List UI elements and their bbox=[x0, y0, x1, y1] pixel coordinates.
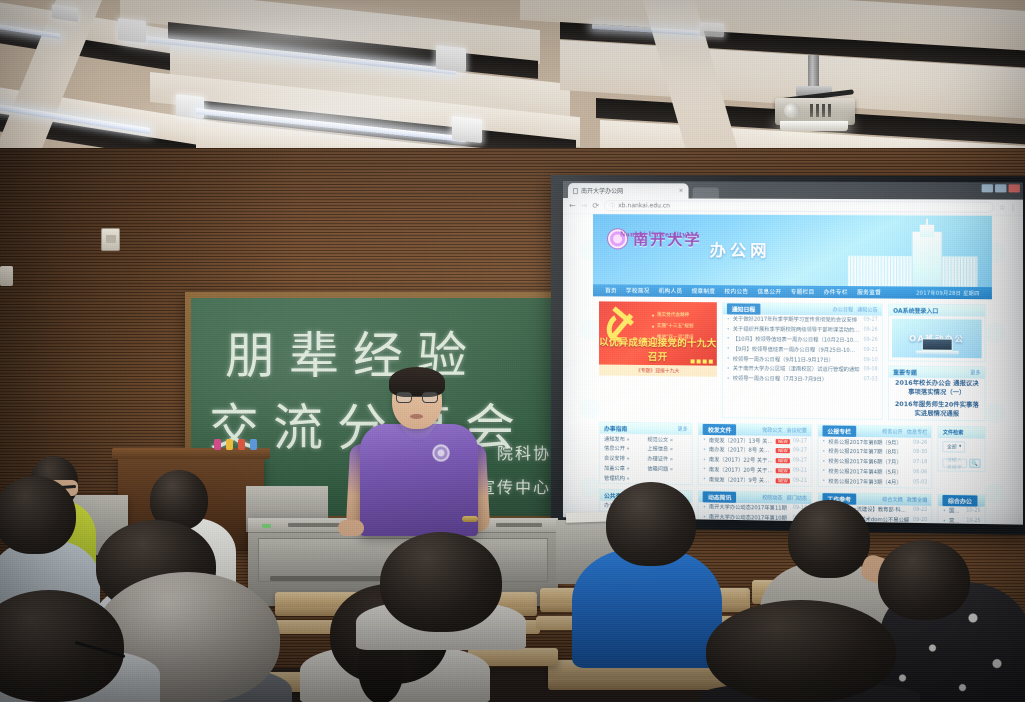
back-icon[interactable]: ← bbox=[569, 202, 576, 210]
gazette-date: 08-30 bbox=[913, 450, 927, 455]
wall-plate bbox=[0, 266, 13, 286]
status-led-icon bbox=[262, 524, 271, 528]
doc-text[interactable]: 南党发〔2017〕9号 关于开展主题... bbox=[709, 476, 773, 484]
browser-tabstrip: 南开大学办公网 × bbox=[563, 181, 1023, 200]
doc-date: 09-27 bbox=[793, 449, 807, 454]
nav-item-0[interactable]: 首页 bbox=[605, 286, 617, 294]
notice-panel: 通知日程 办公日程 通知公告 •关于做好2017年秋季学期学习宣传贯彻党的会议安… bbox=[722, 302, 883, 420]
ceiling-projector bbox=[770, 55, 890, 125]
guide-link[interactable]: 会议安排 » bbox=[604, 455, 644, 463]
guide-link[interactable]: 办理证件 » bbox=[647, 455, 687, 463]
gazette-text[interactable]: 校务公报2017年第8期（9月） bbox=[828, 438, 910, 446]
gazette-panel: 公报专栏 校务公开 信息专栏 •校务公报2017年第8期（9月）09-26 •校… bbox=[817, 424, 932, 488]
search-icon[interactable]: 🔍 bbox=[969, 459, 980, 468]
news-tab-0[interactable]: 校院动态 bbox=[762, 494, 782, 501]
nav-item-3[interactable]: 规章制度 bbox=[692, 287, 716, 295]
guide-link[interactable]: 加盖公章 » bbox=[604, 465, 644, 473]
gazette-text[interactable]: 校务公报2017年第3期（4月） bbox=[828, 478, 910, 486]
news-tab-1[interactable]: 部门动态 bbox=[787, 495, 807, 502]
guide-link[interactable]: 上报信息 » bbox=[647, 446, 687, 454]
chevron-down-icon: ▾ bbox=[959, 445, 961, 450]
close-window-icon[interactable] bbox=[1009, 184, 1020, 192]
projector-lens-icon bbox=[784, 103, 800, 118]
nav-item-2[interactable]: 机构人员 bbox=[659, 287, 683, 295]
party-point-0: 落实党代会精神 bbox=[657, 312, 689, 318]
nav-item-6[interactable]: 专题栏目 bbox=[791, 288, 815, 296]
gazette-text[interactable]: 校务公报2017年第7期（8月） bbox=[828, 448, 910, 456]
gazette-date: 05-03 bbox=[913, 480, 927, 485]
gazette-date: 06-06 bbox=[913, 470, 927, 475]
new-badge: NEW bbox=[776, 448, 790, 453]
topic-panel-title: 重要专题 bbox=[893, 367, 917, 376]
nav-item-1[interactable]: 学校简况 bbox=[626, 287, 650, 295]
polo-logo-icon bbox=[432, 444, 450, 462]
new-badge: NEW bbox=[776, 458, 790, 463]
list-item: •南党发〔2017〕9号 关于开展主题...NEW09-21 bbox=[699, 474, 811, 486]
topic-item[interactable]: 2016年校长办公会 通报议决事项落实情况（一） bbox=[889, 378, 985, 400]
tab-title: 南开大学办公网 bbox=[581, 186, 623, 195]
forward-icon[interactable]: → bbox=[581, 202, 588, 210]
carousel-dots[interactable] bbox=[690, 359, 712, 363]
notice-text[interactable]: 关于组织开展秋季学期校院两级领导干部听课活动的通知 bbox=[733, 326, 861, 334]
campus-tower-illustration bbox=[824, 225, 978, 287]
notice-date: 09-21 bbox=[863, 348, 877, 353]
news-panel-title: 动态简讯 bbox=[703, 491, 737, 503]
doc-date: 09-27 bbox=[793, 439, 807, 444]
right-text[interactable]: 国家相关政策条例 bbox=[949, 508, 963, 515]
guide-link[interactable]: 规范公文 » bbox=[647, 436, 687, 444]
list-item: •校领导一周办公日程（7月3日-7月9日）07-03 bbox=[723, 373, 882, 385]
scope-label: 全部 bbox=[947, 443, 957, 450]
new-tab-button[interactable] bbox=[693, 187, 719, 198]
eyeglasses-icon bbox=[396, 392, 438, 403]
browser-tab[interactable]: 南开大学办公网 × bbox=[568, 183, 689, 198]
gazette-tab-0[interactable]: 校务公开 bbox=[882, 428, 903, 435]
topic-item[interactable]: 2016年服务师生20件实事落实进展情况通报 bbox=[889, 398, 985, 420]
gazette-text[interactable]: 校务公报2017年第4期（5月） bbox=[828, 468, 910, 476]
banner-caption: 《专题》迎接十九大 bbox=[599, 364, 717, 376]
party-promo-banner[interactable]: ★落实党代会精神 ★实施"十三五"规划 ★推进"双一流"建设 以优异成绩迎接党的… bbox=[599, 301, 717, 376]
right-text[interactable]: 常用部门公务员工作 bbox=[949, 518, 963, 525]
notice-panel-title: 通知日程 bbox=[727, 303, 761, 314]
favicon-icon bbox=[573, 188, 578, 194]
gazette-tab-1[interactable]: 信息专栏 bbox=[907, 429, 928, 436]
gazette-date: 09-26 bbox=[913, 440, 927, 445]
speaker-hand bbox=[338, 520, 364, 536]
maximize-icon[interactable] bbox=[995, 184, 1006, 192]
ref-tab-0[interactable]: 综合文摘 bbox=[882, 496, 903, 503]
guide-link[interactable]: 信息公开 » bbox=[604, 445, 644, 453]
gazette-date: 07-18 bbox=[913, 460, 927, 465]
guide-panel: 办事指南 更多 通知发布 »规范公文 » 信息公开 »上报信息 » 会议安排 »… bbox=[599, 422, 693, 485]
wristwatch-icon bbox=[462, 516, 478, 522]
notice-text[interactable]: 【9月】校领导值班表一周办公日程（9月25日-10月1日） bbox=[733, 345, 861, 353]
minimize-icon[interactable] bbox=[982, 184, 993, 192]
guide-link[interactable] bbox=[647, 479, 687, 480]
file-search-scope-select[interactable]: 全部 ▾ bbox=[943, 441, 966, 452]
content-row-1: ★落实党代会精神 ★实施"十三五"规划 ★推进"双一流"建设 以优异成绩迎接党的… bbox=[593, 296, 992, 421]
nav-date: 2017年09月28日 星期四 bbox=[916, 289, 979, 297]
notice-date: 07-03 bbox=[863, 377, 877, 382]
browser-menu-icon[interactable]: ⋮ bbox=[1010, 203, 1017, 211]
new-badge: NEW bbox=[776, 439, 790, 444]
ref-tab-1[interactable]: 政策全编 bbox=[907, 497, 928, 504]
doc-date: 09-21 bbox=[793, 478, 807, 483]
reload-icon[interactable]: ⟳ bbox=[592, 202, 599, 210]
content-row-2: 办事指南 更多 通知发布 »规范公文 » 信息公开 »上报信息 » 会议安排 »… bbox=[593, 417, 992, 490]
notice-text[interactable]: 关于做好2017年秋季学期学习宣传贯彻党的会议安排 bbox=[733, 316, 861, 324]
nav-item-4[interactable]: 校内公告 bbox=[724, 287, 748, 295]
docs-panel: 校发文件 党政公文 会议纪要 •南党发〔2017〕13号 关于成立党委...NE… bbox=[698, 423, 812, 487]
file-search-input[interactable]: 请输入关键字 bbox=[943, 459, 967, 468]
file-search-title: 文件检索 bbox=[943, 429, 964, 436]
ceiling bbox=[0, 0, 1025, 152]
nav-item-8[interactable]: 服务监督 bbox=[857, 288, 881, 296]
doc-text[interactable]: 南党发〔2017〕13号 关于成立党委... bbox=[709, 437, 773, 445]
topic-panel: 重要专题 更多 2016年校长办公会 通报议决事项落实情况（一） 2016年服务… bbox=[888, 365, 986, 421]
notice-tab-0[interactable]: 办公日程 bbox=[833, 306, 853, 313]
oa-login-panel: OA系统登录入口 OA移动办公 bbox=[888, 304, 986, 363]
projector-mount-pole bbox=[808, 55, 819, 89]
url-text: xb.nankai.edu.cn bbox=[618, 202, 670, 209]
nav-item-7[interactable]: 办件专栏 bbox=[824, 288, 848, 296]
oa-panel-title: OA系统登录入口 bbox=[893, 306, 938, 315]
right-list-title: 综合办公 bbox=[943, 495, 977, 507]
notice-date: 09-26 bbox=[863, 328, 877, 333]
guide-link[interactable]: 通知发布 » bbox=[604, 435, 644, 443]
oa-mobile-office-image[interactable]: OA移动办公 bbox=[892, 319, 982, 358]
projection-screen: 南开大学办公网 × ← → ⟳ ⓘ xb.nankai.edu.cn bbox=[551, 175, 1025, 535]
guide-link[interactable]: 信箱问题 » bbox=[647, 465, 687, 473]
gazette-panel-title: 公报专栏 bbox=[822, 426, 856, 438]
notice-text[interactable]: 【10月】校领导值班表一周办公日程（10月2日-10月8日） bbox=[733, 336, 861, 344]
doc-text[interactable]: 南发〔2017〕22号 关于做好招聘... bbox=[709, 456, 773, 464]
doc-text[interactable]: 南办发〔2017〕8号 关于公布全校... bbox=[709, 446, 773, 454]
window-controls bbox=[982, 184, 1020, 192]
notice-date: 09-08 bbox=[863, 367, 877, 372]
laptop-icon bbox=[915, 338, 958, 355]
site-info-icon[interactable]: ⓘ bbox=[609, 201, 615, 210]
guide-more-link[interactable]: 更多 bbox=[678, 426, 688, 433]
new-badge: NEW bbox=[776, 468, 790, 473]
doc-date: 09-27 bbox=[793, 458, 807, 463]
browser-toolbar: ← → ⟳ ⓘ xb.nankai.edu.cn ☆ ⋮ bbox=[563, 198, 1023, 216]
site-banner: 南开大学 Nankai University 办公网 bbox=[593, 214, 992, 287]
bookmark-star-icon[interactable]: ☆ bbox=[999, 203, 1005, 211]
news-text[interactable]: 南开大学办公动态2017年第10期 bbox=[709, 514, 790, 522]
notice-tab-1[interactable]: 通知公告 bbox=[857, 306, 877, 313]
notice-date: 09-26 bbox=[863, 338, 877, 343]
new-badge: NEW bbox=[776, 478, 790, 483]
docs-tab-0[interactable]: 党政公文 bbox=[762, 427, 782, 434]
projector-light-output bbox=[780, 121, 848, 131]
notice-text[interactable]: 校领导一周办公日程（7月3日-7月9日） bbox=[733, 375, 861, 383]
lecture-hall-photo: 朋辈经验 交流分享会 主办方：院科协 承办方：院宣传中心 南开大学办公网 × bbox=[0, 0, 1025, 702]
notice-text[interactable]: 校领导一周办公日程（9月11日-9月17日） bbox=[733, 355, 861, 363]
notice-text[interactable]: 关于南开大学办公区域（津南校区）试运行管理的通知 bbox=[733, 365, 861, 373]
right-date: 10-25 bbox=[966, 519, 980, 524]
guide-link[interactable]: 管理机构 » bbox=[604, 474, 644, 482]
topic-more-link[interactable]: 更多 bbox=[970, 369, 980, 376]
site-subtitle: 办公网 bbox=[710, 237, 771, 262]
doc-date: 09-21 bbox=[793, 468, 807, 473]
logo-text-en: Nankai University bbox=[620, 231, 686, 238]
file-search-panel: 文件检索 全部 ▾ 请输入关键字 🔍 bbox=[938, 426, 986, 472]
notice-date: 09-10 bbox=[863, 358, 877, 363]
docs-tab-1[interactable]: 会议纪要 bbox=[787, 427, 807, 434]
guide-panel-title: 办事指南 bbox=[604, 424, 627, 433]
doc-text[interactable]: 南发〔2017〕20号 关于深化改革... bbox=[709, 466, 773, 474]
address-bar[interactable]: ⓘ xb.nankai.edu.cn bbox=[604, 200, 994, 213]
light-switch-icon[interactable] bbox=[101, 228, 120, 251]
browser-window: 南开大学办公网 × ← → ⟳ ⓘ xb.nankai.edu.cn bbox=[563, 181, 1023, 525]
ref-date: 09-22 bbox=[913, 508, 927, 513]
right-date: 10-25 bbox=[966, 509, 980, 514]
notice-date: 09-27 bbox=[863, 318, 877, 323]
close-tab-icon[interactable]: × bbox=[678, 187, 683, 194]
ref-date: 09-20 bbox=[913, 518, 927, 523]
gazette-text[interactable]: 校务公报2017年第6期（7月） bbox=[828, 458, 910, 466]
party-point-1: 实施"十三五"规划 bbox=[657, 323, 694, 329]
list-item: •校务公报2017年第3期（4月）05-03 bbox=[818, 476, 931, 488]
list-item: •常用部门公务员工作10-25 bbox=[939, 516, 985, 525]
docs-panel-title: 校发文件 bbox=[703, 424, 737, 436]
news-text[interactable]: 南开大学办公动态2017年第11期 bbox=[709, 504, 790, 512]
right-list-panel: 综合办公 •国家相关政策条例10-25 •常用部门公务员工作10-25 •普通高… bbox=[938, 494, 986, 525]
nav-item-5[interactable]: 信息公开 bbox=[757, 287, 781, 295]
web-page: 南开大学 Nankai University 办公网 bbox=[563, 214, 1023, 525]
